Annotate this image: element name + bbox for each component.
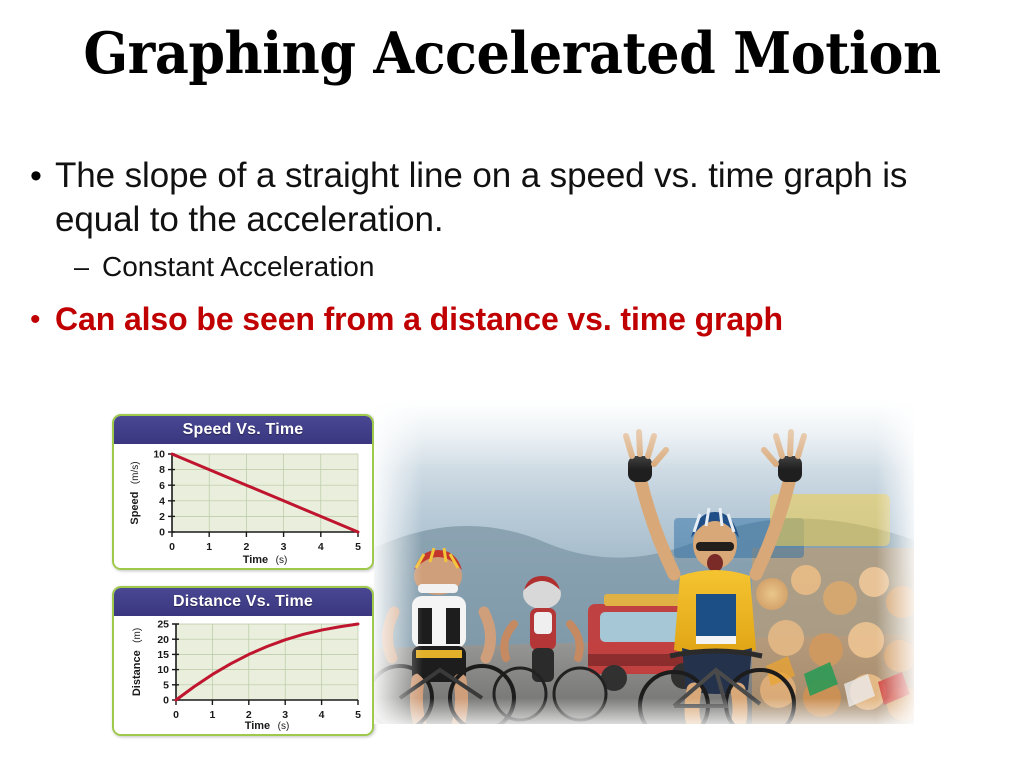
bullet-text-highlight: Can also be seen from a distance vs. tim… (55, 298, 992, 340)
chart-title-speed-vs-time: Speed Vs. Time (114, 416, 372, 444)
x-axis-title-text: Time (245, 720, 270, 732)
list-item: • The slope of a straight line on a spee… (22, 154, 992, 242)
distance-vs-time-svg: 0510152025 012345 Distance (m) Time (s) (114, 616, 372, 734)
chart-title-distance-vs-time: Distance Vs. Time (114, 588, 372, 616)
x-tick-label: 5 (355, 541, 361, 553)
y-tick-label: 2 (159, 511, 165, 523)
y-tick-label: 10 (157, 664, 169, 676)
y-axis-title-unit: (m) (132, 628, 143, 643)
speed-vs-time-svg: 0246810 012345 Speed (m/s) Time (s) (114, 444, 372, 568)
bullet-text-sub: Constant Acceleration (102, 248, 992, 286)
y-tick-label: 4 (159, 495, 165, 507)
chart-card-speed-vs-time: Speed Vs. Time 0246810 012345 Speed (m/s… (112, 414, 374, 570)
dash-marker-icon: – (74, 248, 102, 286)
page-title: Graphing Accelerated Motion (41, 24, 983, 84)
y-tick-label: 20 (157, 634, 169, 646)
list-item-sub: – Constant Acceleration (22, 248, 992, 286)
x-axis-title-text: Time (243, 554, 268, 566)
x-tick-label: 4 (318, 541, 324, 553)
bullet-marker-icon-red: • (22, 298, 55, 342)
y-axis-title-unit: (m/s) (130, 461, 141, 484)
plot-background (176, 624, 358, 700)
x-axis-title-unit: (s) (276, 555, 288, 566)
x-tick-label: 2 (243, 541, 249, 553)
y-tick-label: 10 (153, 449, 165, 461)
bullet-text-primary: The slope of a straight line on a speed … (55, 154, 992, 242)
chart-plot-area-speed: 0246810 012345 Speed (m/s) Time (s) (114, 444, 372, 568)
y-tick-label: 5 (163, 679, 169, 691)
y-tick-labels: 0510152025 (157, 619, 169, 707)
bullet-list: • The slope of a straight line on a spee… (22, 154, 992, 344)
y-tick-label: 8 (159, 464, 165, 476)
y-tick-labels: 0246810 (153, 449, 165, 539)
photo-winner-sunglasses (696, 542, 734, 551)
y-axis-title-text: Distance (131, 650, 143, 696)
chart-plot-area-distance: 0510152025 012345 Distance (m) Time (s) (114, 616, 372, 734)
y-tick-label: 15 (157, 649, 169, 661)
photo-jersey-blue-panel (696, 594, 736, 636)
x-tick-label: 3 (282, 709, 288, 721)
x-tick-label: 3 (281, 541, 287, 553)
list-item-highlight: • Can also be seen from a distance vs. t… (22, 298, 992, 342)
chart-card-distance-vs-time: Distance Vs. Time 0510152025 012345 Dist… (112, 586, 374, 736)
x-tick-label: 5 (355, 709, 361, 721)
x-tick-label: 1 (209, 709, 215, 721)
y-tick-label: 6 (159, 480, 165, 492)
x-tick-label: 4 (319, 709, 325, 721)
y-axis-title-text: Speed (129, 492, 141, 525)
x-tick-label: 0 (169, 541, 175, 553)
bullet-marker-icon: • (22, 154, 55, 198)
y-tick-label: 25 (157, 619, 169, 631)
photo-jersey-white-stripe (696, 636, 736, 644)
x-axis-title-unit: (s) (278, 721, 290, 732)
x-tick-labels: 012345 (169, 541, 361, 553)
cycling-race-finish-photo (374, 398, 914, 724)
x-tick-label: 0 (173, 709, 179, 721)
y-tick-label: 0 (163, 695, 169, 707)
y-axis-title: Speed (m/s) (125, 461, 142, 524)
x-tick-label: 1 (206, 541, 212, 553)
y-axis-title: Distance (m) (127, 628, 144, 696)
photo-illustration (374, 398, 914, 724)
photo-crowd (752, 548, 914, 724)
y-tick-label: 0 (159, 527, 165, 539)
